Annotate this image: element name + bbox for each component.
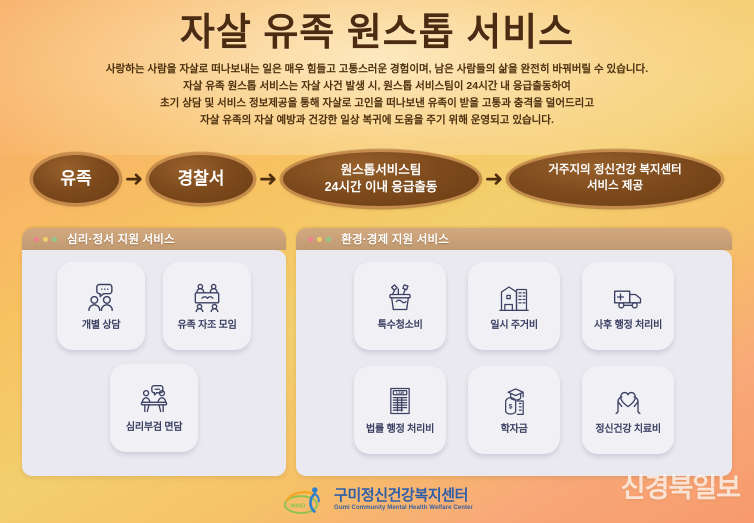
- intro-paragraph: 사랑하는 사람을 자살로 떠나보내는 일은 매우 힘들고 고통스러운 경험이며,…: [0, 61, 754, 129]
- service-card-post-admin-label: 사후 행정 처리비: [594, 316, 662, 331]
- panel-environmental-title: 환경·경제 지원 서비스: [341, 231, 449, 247]
- intro-line-4: 자살 유족의 자살 예방과 건강한 일상 복귀에 도움을 주기 위해 운영되고 …: [0, 112, 754, 129]
- service-card-mental-health-treatment[interactable]: 정신건강 치료비: [582, 366, 674, 454]
- self-help-group-icon: [190, 282, 224, 312]
- flow-arrow-icon-2: ➜: [253, 168, 283, 190]
- service-card-special-cleaning[interactable]: 특수청소비: [354, 262, 446, 350]
- environmental-card-row-1: 특수청소비 일: [306, 262, 722, 350]
- service-card-psychological-autopsy[interactable]: 심리부검 면담: [110, 364, 198, 452]
- hearse-vehicle-icon: [611, 282, 645, 312]
- counseling-icon: [84, 282, 118, 312]
- flow-node-bereaved: 유족: [33, 155, 119, 203]
- footer-logo-text: 구미정신건강복지센터 Gumi Community Mental Health …: [334, 488, 473, 513]
- window-dot-yellow-icon: [43, 237, 48, 242]
- temporary-housing-icon: [497, 282, 531, 312]
- service-card-self-help-group[interactable]: 유족 자조 모임: [163, 262, 251, 350]
- service-card-temporary-housing-label: 일시 주거비: [490, 316, 538, 331]
- svg-text:$: $: [509, 403, 513, 410]
- flow-arrow-icon-3: ➜: [479, 168, 509, 190]
- panel-psychological: 심리·정서 지원 서비스: [22, 228, 286, 476]
- service-card-counseling[interactable]: 개별 상담: [57, 262, 145, 350]
- poster-canvas: 자살 유족 원스톱 서비스 사랑하는 사람을 자살로 떠나보내는 일은 매우 힘…: [0, 0, 754, 523]
- flow-node-center-line-1: 거주지의 정신건강 복지센터: [548, 163, 681, 179]
- mind-logo-icon: MIND: [281, 483, 327, 517]
- window-dot-green-icon: [52, 237, 57, 242]
- service-card-psychological-autopsy-label: 심리부검 면담: [126, 418, 183, 433]
- law-document-icon: LAW: [383, 386, 417, 416]
- intro-line-3: 초기 상담 및 서비스 정보제공을 통해 자살로 고인을 떠나보낸 유족이 받을…: [0, 95, 754, 112]
- panel-environmental-economic: 환경·경제 지원 서비스: [296, 228, 732, 476]
- panel-psychological-tab: 심리·정서 지원 서비스: [22, 228, 286, 250]
- psychological-card-row-1: 개별 상담: [32, 262, 276, 350]
- flow-node-mental-health-center: 거주지의 정신건강 복지센터 서비스 제공: [509, 152, 721, 206]
- footer-organization-logo: MIND 구미정신건강복지센터 Gumi Community Mental He…: [281, 483, 473, 517]
- flow-node-onestop-line-2: 24시간 이내 응급출동: [325, 179, 438, 196]
- environmental-card-row-2: LAW 법률 행정 처리비: [306, 366, 722, 454]
- footer-logo-korean: 구미정신건강복지센터: [334, 488, 473, 505]
- panel-environmental-body: 특수청소비 일: [296, 250, 732, 476]
- service-card-mental-health-treatment-label: 정신건강 치료비: [595, 420, 661, 435]
- panel-environmental-tab: 환경·경제 지원 서비스: [296, 228, 732, 250]
- flow-node-police: 경찰서: [149, 155, 253, 203]
- intro-line-1: 사랑하는 사람을 자살로 떠나보내는 일은 매우 힘들고 고통스러운 경험이며,…: [0, 61, 754, 78]
- service-card-special-cleaning-label: 특수청소비: [378, 316, 423, 331]
- service-card-legal-admin[interactable]: LAW 법률 행정 처리비: [354, 366, 446, 454]
- window-dots: [34, 237, 57, 242]
- panel-psychological-title: 심리·정서 지원 서비스: [67, 231, 175, 247]
- psychological-autopsy-icon: [137, 384, 171, 414]
- scholarship-money-icon: $: [497, 386, 531, 416]
- svg-text:MIND: MIND: [291, 504, 306, 510]
- service-card-counseling-label: 개별 상담: [82, 316, 121, 331]
- intro-line-2: 자살 유족 원스톱 서비스는 자살 사건 발생 시, 원스톱 서비스팀이 24시…: [0, 78, 754, 95]
- service-card-post-admin[interactable]: 사후 행정 처리비: [582, 262, 674, 350]
- process-flow-diagram: 유족 ➜ 경찰서 ➜ 원스톱서비스팀 24시간 이내 응급출동 ➜ 거주지의 정…: [0, 148, 754, 210]
- flow-arrow-icon-1: ➜: [119, 168, 149, 190]
- flow-node-police-label: 경찰서: [178, 168, 225, 191]
- flow-node-onestop-line-1: 원스톱서비스팀: [325, 162, 438, 179]
- window-dot-green-icon: [326, 237, 331, 242]
- flow-node-center-line-2: 서비스 제공: [548, 179, 681, 195]
- heart-in-hands-icon: [611, 386, 645, 416]
- service-card-scholarship[interactable]: $ 학자금: [468, 366, 560, 454]
- svg-text:LAW: LAW: [396, 391, 405, 395]
- service-card-temporary-housing[interactable]: 일시 주거비: [468, 262, 560, 350]
- flow-node-onestop-team: 원스톱서비스팀 24시간 이내 응급출동: [283, 152, 479, 206]
- service-card-self-help-group-label: 유족 자조 모임: [178, 316, 237, 331]
- window-dot-red-icon: [34, 237, 39, 242]
- cleaning-bucket-icon: [383, 282, 417, 312]
- page-title: 자살 유족 원스톱 서비스: [0, 12, 754, 55]
- service-card-legal-admin-label: 법률 행정 처리비: [366, 420, 434, 435]
- header: 자살 유족 원스톱 서비스 사랑하는 사람을 자살로 떠나보내는 일은 매우 힘…: [0, 0, 754, 129]
- window-dot-yellow-icon: [317, 237, 322, 242]
- service-card-scholarship-label: 학자금: [501, 420, 528, 435]
- psychological-card-row-2: 심리부검 면담: [32, 364, 276, 452]
- service-panels: 심리·정서 지원 서비스: [0, 228, 754, 476]
- footer-logo-english: Gumi Community Mental Health Welfare Cen…: [334, 505, 473, 512]
- window-dot-red-icon: [308, 237, 313, 242]
- flow-node-bereaved-label: 유족: [60, 168, 91, 191]
- window-dots: [308, 237, 331, 242]
- panel-psychological-body: 개별 상담: [22, 250, 286, 476]
